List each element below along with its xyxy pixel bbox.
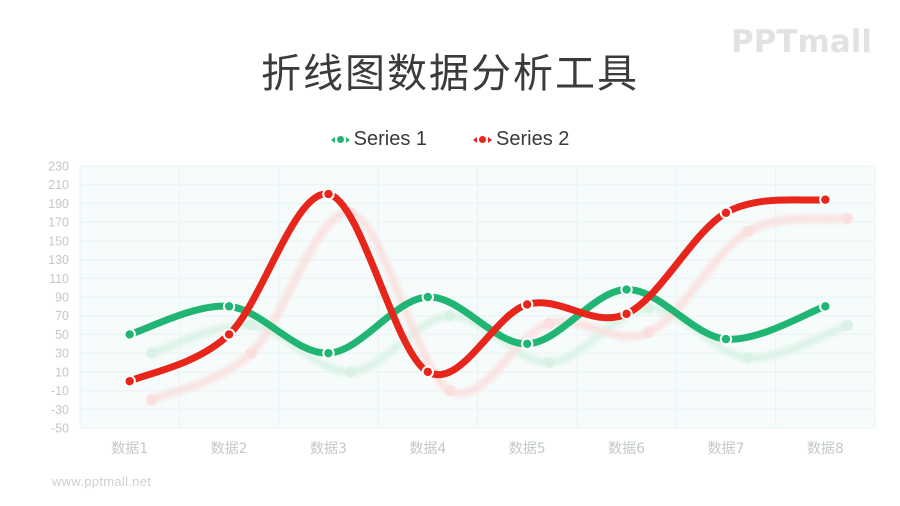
- y-tick-label: 10: [55, 365, 69, 379]
- ghost-point-marker: [146, 394, 157, 405]
- y-tick-label: 50: [55, 328, 69, 342]
- point-marker-series-1-3[interactable]: [324, 349, 332, 357]
- ghost-point-marker: [742, 226, 753, 237]
- line-chart[interactable]: 2302101901701501301109070503010-10-30-50…: [0, 0, 900, 506]
- ghost-point-marker: [544, 357, 555, 368]
- point-marker-series-2-4[interactable]: [424, 368, 432, 376]
- ghost-point-marker: [246, 348, 257, 359]
- point-marker-series-1-1[interactable]: [125, 330, 133, 338]
- y-tick-label: -30: [51, 403, 69, 417]
- ghost-point-marker: [345, 366, 356, 377]
- x-tick-label: 数据6: [608, 441, 645, 457]
- x-tick-label: 数据3: [310, 441, 347, 457]
- ghost-point-marker: [643, 327, 654, 338]
- point-marker-series-1-2[interactable]: [225, 302, 233, 310]
- point-marker-series-1-8[interactable]: [821, 302, 829, 310]
- point-marker-series-2-5[interactable]: [523, 300, 531, 308]
- point-marker-series-1-7[interactable]: [722, 335, 730, 343]
- point-marker-series-1-4[interactable]: [424, 293, 432, 301]
- y-tick-label: 190: [48, 197, 69, 211]
- y-tick-label: 130: [48, 253, 69, 267]
- point-marker-series-1-6[interactable]: [622, 285, 630, 293]
- x-tick-label: 数据7: [707, 441, 744, 457]
- y-tick-label: 70: [55, 309, 69, 323]
- slide-canvas: PPTmall 折线图数据分析工具 Series 1 Series 2 2302…: [0, 0, 900, 506]
- y-tick-label: 170: [48, 216, 69, 230]
- x-axis-tick-labels: 数据1数据2数据3数据4数据5数据6数据7数据8: [111, 441, 844, 457]
- point-marker-series-2-3[interactable]: [324, 190, 332, 198]
- x-tick-label: 数据4: [409, 441, 446, 457]
- x-tick-label: 数据1: [111, 441, 148, 457]
- ghost-point-marker: [146, 348, 157, 359]
- ghost-point-marker: [246, 320, 257, 331]
- point-marker-series-2-7[interactable]: [722, 209, 730, 217]
- footer-url: www.pptmall.net: [52, 474, 151, 489]
- y-tick-label: -50: [51, 422, 69, 436]
- y-axis-tick-labels: 2302101901701501301109070503010-10-30-50: [48, 160, 69, 436]
- y-tick-label: 110: [49, 272, 69, 286]
- x-tick-label: 数据5: [509, 441, 546, 457]
- y-tick-label: -10: [51, 384, 69, 398]
- y-tick-label: 30: [55, 347, 69, 361]
- ghost-point-marker: [742, 352, 753, 363]
- point-marker-series-2-1[interactable]: [125, 377, 133, 385]
- x-tick-label: 数据8: [807, 441, 844, 457]
- y-tick-label: 90: [55, 291, 69, 305]
- ghost-point-marker: [444, 310, 455, 321]
- ghost-point-marker: [842, 320, 853, 331]
- x-tick-label: 数据2: [211, 441, 248, 457]
- y-tick-label: 230: [48, 160, 69, 174]
- point-marker-series-2-6[interactable]: [622, 310, 630, 318]
- y-tick-label: 210: [48, 178, 69, 192]
- ghost-point-marker: [444, 385, 455, 396]
- ghost-point-marker: [544, 318, 555, 329]
- point-marker-series-2-8[interactable]: [821, 195, 829, 203]
- y-tick-label: 150: [48, 234, 69, 248]
- ghost-point-marker: [842, 213, 853, 224]
- point-marker-series-2-2[interactable]: [225, 330, 233, 338]
- point-marker-series-1-5[interactable]: [523, 340, 531, 348]
